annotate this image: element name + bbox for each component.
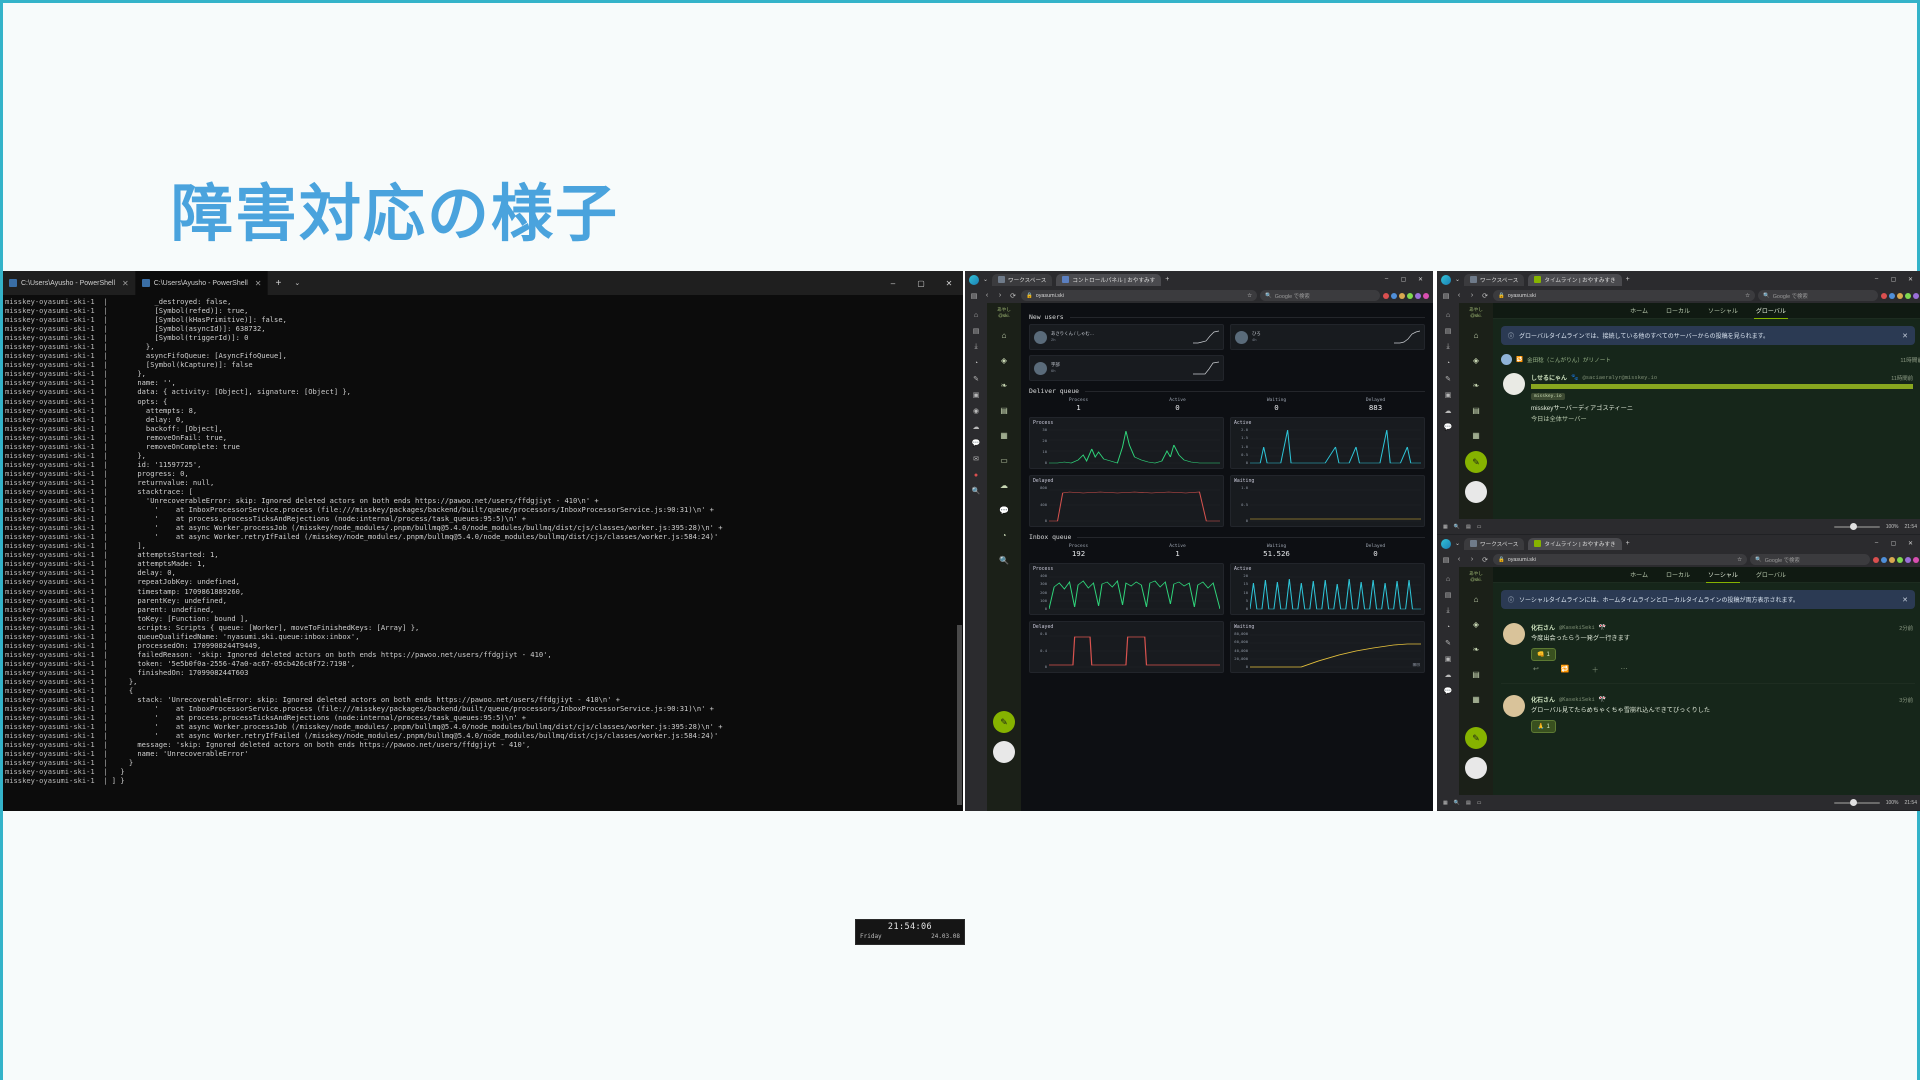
downloads-icon[interactable]: ⤓ xyxy=(1437,339,1459,355)
back-button[interactable]: ‹ xyxy=(1454,292,1464,299)
post-note-button[interactable]: ✎ xyxy=(1465,727,1487,749)
grafana-window-controls: – ▢ ✕ xyxy=(1378,276,1429,283)
grafana-browser-window: ⌄ ワークスペース コントロールパネル | おやすみす + – ▢ ✕ ▤ xyxy=(965,271,1433,811)
terminal-line: misskey-oyasumi-ski-1 | id: '11597725', xyxy=(5,460,963,469)
leaf-icon[interactable]: ❧ xyxy=(1468,377,1484,393)
account-label: あやし @ski. xyxy=(1469,307,1483,319)
misskey-bottom-tab-workspace[interactable]: ワークスペース xyxy=(1464,538,1524,550)
more-icon[interactable]: ⋯ xyxy=(1621,665,1628,675)
note-badge: 🐾 xyxy=(1571,374,1578,381)
note-time: 3分前 xyxy=(1899,696,1913,704)
misskey-top-tab-workspace[interactable]: ワークスペース xyxy=(1464,274,1524,286)
history-icon[interactable]: ◔ xyxy=(1437,619,1459,635)
tab-label: タイムライン | おやすみすき xyxy=(1544,540,1615,548)
leaf-icon[interactable]: ❧ xyxy=(1468,641,1484,657)
divider xyxy=(1501,683,1915,684)
tab-local[interactable]: ローカル xyxy=(1664,306,1692,315)
deliver-queue-stats: Process 1 Active 0 Waiting 0 xyxy=(1029,398,1425,412)
panel-inbox-process[interactable]: Process 400 300 200 100 0 xyxy=(1029,563,1224,615)
search-input[interactable]: 🔍 Google で検索 xyxy=(1750,554,1870,565)
reload-button[interactable]: ⟳ xyxy=(1480,556,1490,564)
grid-icon[interactable]: ▦ xyxy=(1443,800,1448,806)
minimize-button[interactable]: – xyxy=(1378,276,1395,283)
user-sub: 6h xyxy=(1051,368,1060,374)
lock-icon: 🔒 xyxy=(1498,293,1505,299)
user-card[interactable]: ひろ 4h xyxy=(1230,324,1425,350)
terminal-tab-2[interactable]: C:\Users\Ayusho - PowerShell ✕ xyxy=(136,271,269,295)
cloud-icon[interactable]: ☁ xyxy=(965,419,987,435)
notes-icon[interactable]: ✎ xyxy=(1437,371,1459,387)
misskey-bottom-status-bar: ▦ 🔍 ▤ ▭ 100% 21:54 xyxy=(1437,795,1920,810)
search-icon[interactable]: 🔍 xyxy=(1454,800,1460,806)
close-button[interactable]: ✕ xyxy=(1902,276,1919,283)
record-icon[interactable]: ● xyxy=(965,467,987,483)
window-icon[interactable]: ▭ xyxy=(1477,524,1482,530)
sparkline xyxy=(1193,330,1219,344)
misskey-top-page: ⌂ ▤ ⤓ ◔ ✎ ▣ ☁ 💬 あやし @ski. ⌂ ◈ ❧ xyxy=(1437,303,1920,519)
downloads-icon[interactable]: ⤓ xyxy=(1437,603,1459,619)
reply-icon[interactable]: ↩ xyxy=(1533,665,1539,675)
terminal-line: misskey-oyasumi-ski-1 | [Symbol(kCapture… xyxy=(5,360,963,369)
misskey-bottom-tab-timeline[interactable]: タイムライン | おやすみすき xyxy=(1528,538,1621,550)
user-sub: 2h xyxy=(1051,337,1094,343)
account-label: あやし @ski. xyxy=(997,307,1011,319)
plot-area xyxy=(1049,485,1220,523)
url-text: oyasumi.ski xyxy=(1508,293,1536,299)
plot-area xyxy=(1049,427,1220,465)
misskey-nav-rail: あやし @ski. ⌂ ◈ ❧ ▤ ▦ ▭ ☁ 💬 ◔ 🔍 ✎ xyxy=(987,303,1021,811)
tools-icon[interactable]: ▣ xyxy=(1437,651,1459,667)
collections-icon[interactable]: ▤ xyxy=(1437,323,1459,339)
note-item[interactable]: 化石さん @KasekiSeki 🎌 2分前 今度出会ったらう一発グー行きます … xyxy=(1493,616,1920,679)
note-handle[interactable]: @KasekiSeki xyxy=(1559,697,1595,703)
panel-inbox-active[interactable]: Active 20 15 10 5 0 xyxy=(1230,563,1425,615)
terminal-line: misskey-oyasumi-ski-1 | ' at async Worke… xyxy=(5,722,963,731)
chat-icon[interactable]: 💬 xyxy=(1437,419,1459,435)
note-handle[interactable]: @saciaeralyr@misskey.io xyxy=(1583,375,1658,381)
search-icon: 🔍 xyxy=(1755,557,1762,563)
note-text: グローバル見てたらめちゃくちゃ雪崩れ込んできてびっくりした xyxy=(1531,706,1913,715)
home-icon[interactable]: ⌂ xyxy=(1437,571,1459,587)
extension-icon[interactable] xyxy=(1423,293,1429,299)
close-icon[interactable]: ✕ xyxy=(1902,596,1908,604)
avatar[interactable] xyxy=(993,741,1015,763)
terminal-line: misskey-oyasumi-ski-1 | removeOnComplete… xyxy=(5,442,963,451)
home-icon[interactable]: ⌂ xyxy=(965,307,987,323)
forward-button[interactable]: › xyxy=(995,292,1005,299)
new-tab-button[interactable]: + xyxy=(1626,276,1630,283)
renote-icon[interactable]: 🔁 xyxy=(1561,665,1570,675)
user-card[interactable]: 宇部 6h xyxy=(1029,355,1224,381)
tab-social[interactable]: ソーシャル xyxy=(1706,570,1740,579)
terminal-scrollbar[interactable] xyxy=(956,295,963,811)
zoom-level: 100% xyxy=(1886,800,1899,806)
terminal-line: misskey-oyasumi-ski-1 | ' at async Worke… xyxy=(5,532,963,541)
app-menu-chevron-icon[interactable]: ⌄ xyxy=(983,276,988,283)
new-tab-button[interactable]: + xyxy=(1165,276,1169,283)
tab-social[interactable]: ソーシャル xyxy=(1706,306,1740,315)
edge-icon xyxy=(1441,539,1451,549)
address-bar[interactable]: 🔒 oyasumi.ski ☆ xyxy=(1493,554,1747,565)
terminal-line: misskey-oyasumi-ski-1 | attempts: 8, xyxy=(5,406,963,415)
terminal-line: misskey-oyasumi-ski-1 | delay: 0, xyxy=(5,415,963,424)
history-icon[interactable]: ◔ xyxy=(1437,355,1459,371)
chat-icon[interactable]: 💬 xyxy=(996,502,1012,518)
tab-global[interactable]: グローバル xyxy=(1754,570,1788,579)
sidebar-toggle-icon[interactable]: ▤ xyxy=(969,292,979,300)
reaction-chip[interactable]: 🙏 1 xyxy=(1531,720,1556,733)
y-axis-ticks: 2.0 1.5 1.0 0.5 0 xyxy=(1234,427,1250,465)
tab-favicon xyxy=(1470,276,1477,283)
note-item[interactable]: 化石さん @KasekiSeki 🎌 3分前 グローバル見てたらめちゃくちゃ雪崩… xyxy=(1493,688,1920,737)
reload-button[interactable]: ⟳ xyxy=(1480,292,1490,300)
tab-favicon xyxy=(1062,276,1069,283)
note-author[interactable]: 化石さん xyxy=(1531,623,1555,632)
notes-icon[interactable]: ✎ xyxy=(965,371,987,387)
panel-deliver-active[interactable]: Active 2.0 1.5 1.0 0.5 0 xyxy=(1230,417,1425,469)
timeline-tabs: ホーム ローカル ソーシャル グローバル xyxy=(1493,303,1920,319)
terminal-line: misskey-oyasumi-ski-1 | }, xyxy=(5,677,963,686)
bell-icon[interactable]: ◔ xyxy=(996,527,1012,543)
note-url-chip[interactable]: misskey.io xyxy=(1531,393,1565,400)
minimize-button[interactable]: – xyxy=(1868,276,1885,283)
terminal-line: misskey-oyasumi-ski-1 | } xyxy=(5,767,963,776)
search-icon[interactable]: 🔍 xyxy=(996,552,1012,568)
terminal-line: misskey-oyasumi-ski-1 | scripts: Scripts… xyxy=(5,623,963,632)
back-button[interactable]: ‹ xyxy=(982,292,992,299)
maximize-button[interactable]: ▢ xyxy=(1885,540,1902,547)
folder-icon[interactable]: ▤ xyxy=(1466,800,1471,806)
misskey-nav-rail: あやし @ski. ⌂ ◈ ❧ ▤ ▦ ✎ xyxy=(1459,567,1493,795)
note-author[interactable]: しせるにゃん xyxy=(1531,373,1567,382)
folder-icon[interactable]: ▤ xyxy=(1466,524,1471,530)
app-menu-chevron-icon[interactable]: ⌄ xyxy=(1455,276,1460,283)
clock-date: 24.03.08 xyxy=(931,933,960,940)
terminal-window-controls: – ▢ ✕ xyxy=(879,271,963,295)
collections-icon[interactable]: ▤ xyxy=(965,323,987,339)
clock-day: Friday xyxy=(860,933,882,940)
grafana-tab-controlpanel[interactable]: コントロールパネル | おやすみす xyxy=(1056,274,1161,286)
legend-toggle-icon[interactable]: ⊞⊟ xyxy=(1412,662,1420,668)
home-icon[interactable]: ⌂ xyxy=(1437,307,1459,323)
terminal-line: misskey-oyasumi-ski-1 | removeOnFail: tr… xyxy=(5,433,963,442)
bookmark-star-icon[interactable]: ☆ xyxy=(1745,293,1750,299)
panel-inbox-delayed[interactable]: Delayed 0.8 0.4 0 xyxy=(1029,621,1224,673)
reaction-count: 1 xyxy=(1546,724,1549,730)
close-icon[interactable]: ✕ xyxy=(1902,332,1908,340)
section-title-deliver-queue: Deliver queue xyxy=(1029,387,1425,395)
post-note-button[interactable]: ✎ xyxy=(993,711,1015,733)
new-tab-button[interactable]: + xyxy=(268,271,288,295)
terminal-line: misskey-oyasumi-ski-1 | ' at async Worke… xyxy=(5,523,963,532)
powershell-icon xyxy=(142,279,150,287)
forward-button[interactable]: › xyxy=(1467,556,1477,563)
extension-icon[interactable] xyxy=(1415,293,1421,299)
avatar[interactable] xyxy=(1503,373,1525,395)
clip-icon[interactable]: ▤ xyxy=(1468,666,1484,682)
bookmark-star-icon[interactable]: ☆ xyxy=(1247,293,1252,299)
search-icon: 🔍 xyxy=(1763,293,1770,299)
maximize-button[interactable]: ▢ xyxy=(907,271,935,295)
terminal-line: misskey-oyasumi-ski-1 | stack: 'Unrecove… xyxy=(5,695,963,704)
misskey-bottom-timeline[interactable]: ホーム ローカル ソーシャル グローバル ⓘ ソーシャルタイムラインには、ホーム… xyxy=(1493,567,1920,795)
note-author[interactable]: 化石さん xyxy=(1531,695,1555,704)
terminal-line: misskey-oyasumi-ski-1 | name: '', xyxy=(5,378,963,387)
tab-label: タイムライン | おやすみすき xyxy=(1544,276,1615,284)
home-icon[interactable]: ⌂ xyxy=(1468,327,1484,343)
bookmark-star-icon[interactable]: ☆ xyxy=(1737,557,1742,563)
leaf-icon[interactable]: ❧ xyxy=(996,377,1012,393)
mail-icon[interactable]: ✉ xyxy=(965,451,987,467)
grid-icon[interactable]: ▦ xyxy=(1443,524,1448,530)
chat-icon[interactable]: 💬 xyxy=(965,435,987,451)
plot-area xyxy=(1250,485,1421,523)
terminal-line: misskey-oyasumi-ski-1 | ], xyxy=(5,541,963,550)
terminal-line: misskey-oyasumi-ski-1 | opts: { xyxy=(5,397,963,406)
extension-icon[interactable] xyxy=(1897,293,1903,299)
new-users-row-1: あさりくん / しゃむ… 2h ひろ xyxy=(1029,324,1425,350)
terminal-line: misskey-oyasumi-ski-1 | ' at InboxProces… xyxy=(5,704,963,713)
terminal-line: misskey-oyasumi-ski-1 | ' at process.pro… xyxy=(5,713,963,722)
chart-icon[interactable]: ▦ xyxy=(1468,691,1484,707)
tab-favicon xyxy=(1470,540,1477,547)
terminal-line: misskey-oyasumi-ski-1 | }, xyxy=(5,342,963,351)
timeline-tabs: ホーム ローカル ソーシャル グローバル xyxy=(1493,567,1920,583)
statusbar-clock: 21:54 xyxy=(1904,524,1917,530)
extension-icon[interactable] xyxy=(1383,293,1389,299)
panel-deliver-waiting[interactable]: Waiting 1.0 0.5 0 xyxy=(1230,475,1425,527)
notes-icon[interactable]: ✎ xyxy=(1437,635,1459,651)
tab-global[interactable]: グローバル xyxy=(1754,306,1788,315)
user-card[interactable]: あさりくん / しゃむ… 2h xyxy=(1029,324,1224,350)
extension-icon[interactable] xyxy=(1905,293,1911,299)
terminal-line: misskey-oyasumi-ski-1 | processedOn: 170… xyxy=(5,641,963,650)
section-title-inbox-queue: Inbox queue xyxy=(1029,533,1425,541)
home-icon[interactable]: ⌂ xyxy=(996,327,1012,343)
info-banner: ⓘ ソーシャルタイムラインには、ホームタイムラインとローカルタイムラインの投稿が… xyxy=(1501,590,1915,609)
stat-process: Process 1 xyxy=(1029,398,1128,412)
search-icon[interactable]: 🔍 xyxy=(965,483,987,499)
extension-icon[interactable] xyxy=(1391,293,1397,299)
terminal-line: misskey-oyasumi-ski-1 | timestamp: 17098… xyxy=(5,587,963,596)
y-axis-ticks: 400 300 200 100 0 xyxy=(1033,573,1049,611)
extension-icon[interactable] xyxy=(1889,293,1895,299)
misskey-global-timeline-window: ⌄ ワークスペース タイムライン | おやすみすき + – ▢ ✕ ▤ xyxy=(1437,271,1920,535)
zoom-level: 100% xyxy=(1886,524,1899,530)
terminal-output[interactable]: misskey-oyasumi-ski-1 | _destroyed: fals… xyxy=(3,295,963,811)
grafana-tab-workspace[interactable]: ワークスペース xyxy=(992,274,1052,286)
clip-icon[interactable]: ▤ xyxy=(996,402,1012,418)
close-button[interactable]: ✕ xyxy=(935,271,963,295)
history-icon[interactable]: ◔ xyxy=(965,355,987,371)
app-menu-chevron-icon[interactable]: ⌄ xyxy=(1455,540,1460,547)
note-time: 11時間前 xyxy=(1891,374,1913,382)
terminal-tab-bar: C:\Users\Ayusho - PowerShell ✕ C:\Users\… xyxy=(3,271,963,295)
note-badge: 🎌 xyxy=(1599,624,1606,631)
stat-active: Active 0 xyxy=(1128,398,1227,412)
close-icon[interactable]: ✕ xyxy=(255,279,262,288)
misskey-top-timeline[interactable]: ホーム ローカル ソーシャル グローバル ⓘ グローバルタイムラインでは、接続し… xyxy=(1493,303,1920,519)
maximize-button[interactable]: ▢ xyxy=(1395,276,1412,283)
note-time: 2分前 xyxy=(1899,624,1913,632)
panel-inbox-waiting[interactable]: Waiting 80,000 60,000 40,000 20,000 0 xyxy=(1230,621,1425,673)
cloud-icon[interactable]: ☁ xyxy=(996,477,1012,493)
reaction-count: 1 xyxy=(1546,652,1549,658)
stat-delayed: Delayed 883 xyxy=(1326,398,1425,412)
reaction-emoji: 👊 xyxy=(1537,651,1544,658)
terminal-line: misskey-oyasumi-ski-1 | ' at process.pro… xyxy=(5,514,963,523)
address-bar[interactable]: 🔒 oyasumi.ski ☆ xyxy=(1021,290,1257,301)
terminal-line: misskey-oyasumi-ski-1 | }, xyxy=(5,451,963,460)
terminal-tab-1[interactable]: C:\Users\Ayusho - PowerShell ✕ xyxy=(3,271,136,295)
terminal-line: misskey-oyasumi-ski-1 | finishedOn: 1709… xyxy=(5,668,963,677)
tools-icon[interactable]: ▣ xyxy=(1437,387,1459,403)
y-axis-ticks: 80,000 60,000 40,000 20,000 0 xyxy=(1234,631,1250,669)
avatar xyxy=(1034,362,1047,375)
terminal-line: misskey-oyasumi-ski-1 | backoff: [Object… xyxy=(5,424,963,433)
droplet-icon[interactable]: ◈ xyxy=(1468,352,1484,368)
tools-icon[interactable]: ▣ xyxy=(965,387,987,403)
droplet-icon[interactable]: ◈ xyxy=(1468,616,1484,632)
user-sub: 4h xyxy=(1252,337,1261,343)
extension-icon[interactable] xyxy=(1905,557,1911,563)
grafana-page: ⌂ ▤ ⤓ ◔ ✎ ▣ ◉ ☁ 💬 ✉ ● 🔍 あやし @ski. xyxy=(965,303,1433,811)
avatar[interactable] xyxy=(1503,695,1525,717)
extension-icons xyxy=(1881,293,1919,299)
zoom-slider[interactable] xyxy=(1834,526,1880,528)
extension-icon[interactable] xyxy=(1913,557,1919,563)
plot-area xyxy=(1049,631,1220,669)
avatar[interactable] xyxy=(1503,623,1525,645)
inbox-queue-panels: Process 400 300 200 100 0 xyxy=(1029,563,1425,673)
info-icon: ⓘ xyxy=(1508,331,1514,340)
reload-button[interactable]: ⟳ xyxy=(1008,292,1018,300)
sparkline xyxy=(1394,330,1420,344)
clip-icon[interactable]: ▤ xyxy=(1468,402,1484,418)
close-icon[interactable]: ✕ xyxy=(122,279,129,288)
y-axis-ticks: 30 20 10 0 xyxy=(1033,427,1049,465)
misskey-top-tab-timeline[interactable]: タイムライン | おやすみすき xyxy=(1528,274,1621,286)
minimize-button[interactable]: – xyxy=(1868,540,1885,547)
terminal-line: misskey-oyasumi-ski-1 | parentKey: undef… xyxy=(5,596,963,605)
search-input[interactable]: 🔍 Google で検索 xyxy=(1758,290,1878,301)
search-placeholder: Google で検索 xyxy=(1765,556,1800,564)
page-title: 障害対応の様子 xyxy=(171,163,619,253)
extension-icon[interactable] xyxy=(1881,293,1887,299)
terminal-line: misskey-oyasumi-ski-1 | failedReason: 's… xyxy=(5,650,963,659)
panel-deliver-process[interactable]: Process 30 20 10 0 xyxy=(1029,417,1224,469)
sidebar-toggle-icon[interactable]: ▤ xyxy=(1441,556,1451,564)
new-users-row-2: 宇部 6h xyxy=(1029,355,1425,381)
avatar xyxy=(1034,331,1047,344)
info-text: グローバルタイムラインでは、接続している他のすべてのサーバーからの投稿を見られま… xyxy=(1519,331,1769,340)
misskey-bottom-page: ⌂ ▤ ⤓ ◔ ✎ ▣ ☁ 💬 あやし @ski. ⌂ ◈ ❧ xyxy=(1437,567,1920,795)
chart-icon[interactable]: ▦ xyxy=(1468,427,1484,443)
note-handle[interactable]: @KasekiSeki xyxy=(1559,625,1595,631)
avatar[interactable] xyxy=(1465,757,1487,779)
address-bar[interactable]: 🔒 oyasumi.ski ☆ xyxy=(1493,290,1755,301)
lock-icon: 🔒 xyxy=(1026,293,1033,299)
stat-waiting: Waiting 0 xyxy=(1227,398,1326,412)
info-icon: ⓘ xyxy=(1508,595,1514,604)
terminal-line: misskey-oyasumi-ski-1 | }, xyxy=(5,369,963,378)
new-tab-button[interactable]: + xyxy=(1626,540,1630,547)
misskey-bottom-window-controls: – ▢ ✕ xyxy=(1868,540,1919,547)
misskey-nav-rail: あやし @ski. ⌂ ◈ ❧ ▤ ▦ ✎ xyxy=(1459,303,1493,519)
cloud-icon[interactable]: ☁ xyxy=(1437,667,1459,683)
monitor-icon[interactable]: ▭ xyxy=(996,452,1012,468)
note-item[interactable]: しせるにゃん 🐾 @saciaeralyr@misskey.io 11時間前 m… xyxy=(1493,366,1920,428)
chart-icon[interactable]: ▦ xyxy=(996,427,1012,443)
panel-deliver-delayed[interactable]: Delayed 800 400 0 xyxy=(1029,475,1224,527)
plot-area: ⊞⊟ xyxy=(1250,631,1421,669)
terminal-line: misskey-oyasumi-ski-1 | name: 'Unrecover… xyxy=(5,749,963,758)
extension-icon[interactable] xyxy=(1897,557,1903,563)
droplet-icon[interactable]: ◈ xyxy=(996,352,1012,368)
avatar xyxy=(1501,354,1512,365)
grafana-dashboard-main[interactable]: New users あさりくん / しゃむ… 2h xyxy=(1021,303,1433,811)
stat-active: Active 1 xyxy=(1128,544,1227,558)
plot-area xyxy=(1250,573,1421,611)
maximize-button[interactable]: ▢ xyxy=(1885,276,1902,283)
extension-icon[interactable] xyxy=(1913,293,1919,299)
note-highlight xyxy=(1531,384,1913,389)
tab-home[interactable]: ホーム xyxy=(1628,570,1650,579)
forward-button[interactable]: › xyxy=(1467,292,1477,299)
account-label: あやし @ski. xyxy=(1469,571,1483,583)
extension-icon[interactable] xyxy=(1881,557,1887,563)
close-button[interactable]: ✕ xyxy=(1902,540,1919,547)
info-banner: ⓘ グローバルタイムラインでは、接続している他のすべてのサーバーからの投稿を見ら… xyxy=(1501,326,1915,345)
edge-icon xyxy=(969,275,979,285)
games-icon[interactable]: ◉ xyxy=(965,403,987,419)
downloads-icon[interactable]: ⤓ xyxy=(965,339,987,355)
terminal-line: misskey-oyasumi-ski-1 | token: '5e5b0f0a… xyxy=(5,659,963,668)
zoom-slider[interactable] xyxy=(1834,802,1880,804)
stat-delayed: Delayed 0 xyxy=(1326,544,1425,558)
terminal-line: misskey-oyasumi-ski-1 | attemptsStarted:… xyxy=(5,550,963,559)
extension-icon[interactable] xyxy=(1399,293,1405,299)
chat-icon[interactable]: 💬 xyxy=(1437,683,1459,699)
chevron-down-icon[interactable]: ⌄ xyxy=(288,271,306,295)
extension-icon[interactable] xyxy=(1407,293,1413,299)
minimize-button[interactable]: – xyxy=(879,271,907,295)
collections-icon[interactable]: ▤ xyxy=(1437,587,1459,603)
close-button[interactable]: ✕ xyxy=(1412,276,1429,283)
tab-local[interactable]: ローカル xyxy=(1664,570,1692,579)
grafana-scroll-area[interactable]: New users あさりくん / しゃむ… 2h xyxy=(1021,303,1433,811)
terminal-line: misskey-oyasumi-ski-1 | repeatJobKey: un… xyxy=(5,577,963,586)
extension-icon[interactable] xyxy=(1873,557,1879,563)
post-note-button[interactable]: ✎ xyxy=(1465,451,1487,473)
sidebar-toggle-icon[interactable]: ▤ xyxy=(1441,292,1451,300)
search-input[interactable]: 🔍 Google で検索 xyxy=(1260,290,1380,301)
tab-label: ワークスペース xyxy=(1480,540,1518,548)
reaction-chip[interactable]: 👊 1 xyxy=(1531,648,1556,661)
cloud-icon[interactable]: ☁ xyxy=(1437,403,1459,419)
extension-icon[interactable] xyxy=(1889,557,1895,563)
extension-icons xyxy=(1383,293,1429,299)
back-button[interactable]: ‹ xyxy=(1454,556,1464,563)
window-icon[interactable]: ▭ xyxy=(1477,800,1482,806)
terminal-tab-2-label: C:\Users\Ayusho - PowerShell xyxy=(154,280,248,287)
terminal-line: misskey-oyasumi-ski-1 | [Symbol(asyncId)… xyxy=(5,324,963,333)
avatar[interactable] xyxy=(1465,481,1487,503)
home-icon[interactable]: ⌂ xyxy=(1468,591,1484,607)
tab-home[interactable]: ホーム xyxy=(1628,306,1650,315)
reaction-icon[interactable]: ＋ xyxy=(1592,665,1599,675)
search-icon[interactable]: 🔍 xyxy=(1454,524,1460,530)
